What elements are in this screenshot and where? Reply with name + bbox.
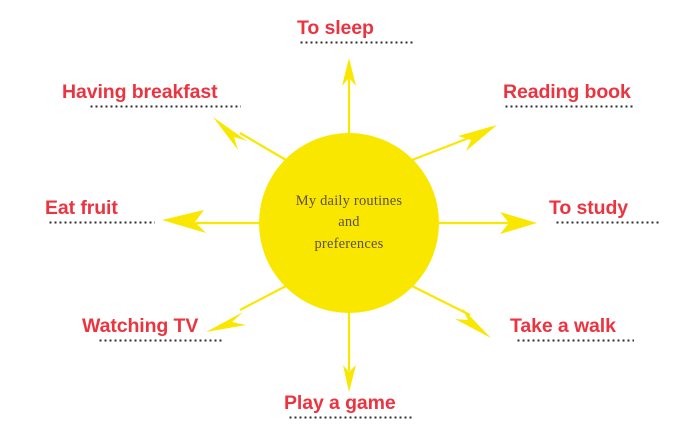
branch-underline-to-study [555,221,660,224]
ray-arrow-up-left [213,117,286,160]
mind-map-diagram: My daily routines and preferences To sle… [0,0,690,438]
branch-label-play-a-game-text: Play a game [284,393,414,413]
ray-arrow-down [343,313,356,392]
ray-arrow-right [439,212,537,234]
branch-label-watching-tv-text: Watching TV [82,316,223,336]
ray-arrow-up-right [412,125,497,160]
branch-label-to-sleep-text: To sleep [297,18,415,38]
branch-underline-reading-book [504,105,634,108]
branch-label-take-a-walk-text: Take a walk [510,316,634,336]
center-label: My daily routines and preferences [282,191,417,254]
branch-underline-to-sleep [299,41,415,44]
branch-label-watching-tv[interactable]: Watching TV [82,316,223,342]
branch-label-to-study[interactable]: To study [549,198,660,224]
branch-label-take-a-walk[interactable]: Take a walk [510,316,634,342]
ray-arrow-left [162,210,259,233]
branch-label-eat-fruit-text: Eat fruit [45,198,155,218]
branch-underline-having-breakfast [89,105,241,108]
branch-underline-take-a-walk [516,339,634,342]
branch-label-to-sleep[interactable]: To sleep [297,18,415,44]
ray-arrow-up [342,58,356,133]
branch-label-having-breakfast-text: Having breakfast [62,82,241,102]
branch-underline-play-a-game [288,416,414,419]
branch-label-reading-book[interactable]: Reading book [503,82,634,108]
center-sun-circle: My daily routines and preferences [259,133,439,313]
branch-label-play-a-game[interactable]: Play a game [284,393,414,419]
branch-label-to-study-text: To study [549,198,660,218]
ray-arrow-down-right [412,286,491,338]
branch-label-having-breakfast[interactable]: Having breakfast [62,82,241,108]
branch-label-reading-book-text: Reading book [503,82,634,102]
branch-label-eat-fruit[interactable]: Eat fruit [45,198,155,224]
branch-underline-watching-tv [98,339,223,342]
branch-underline-eat-fruit [48,221,155,224]
